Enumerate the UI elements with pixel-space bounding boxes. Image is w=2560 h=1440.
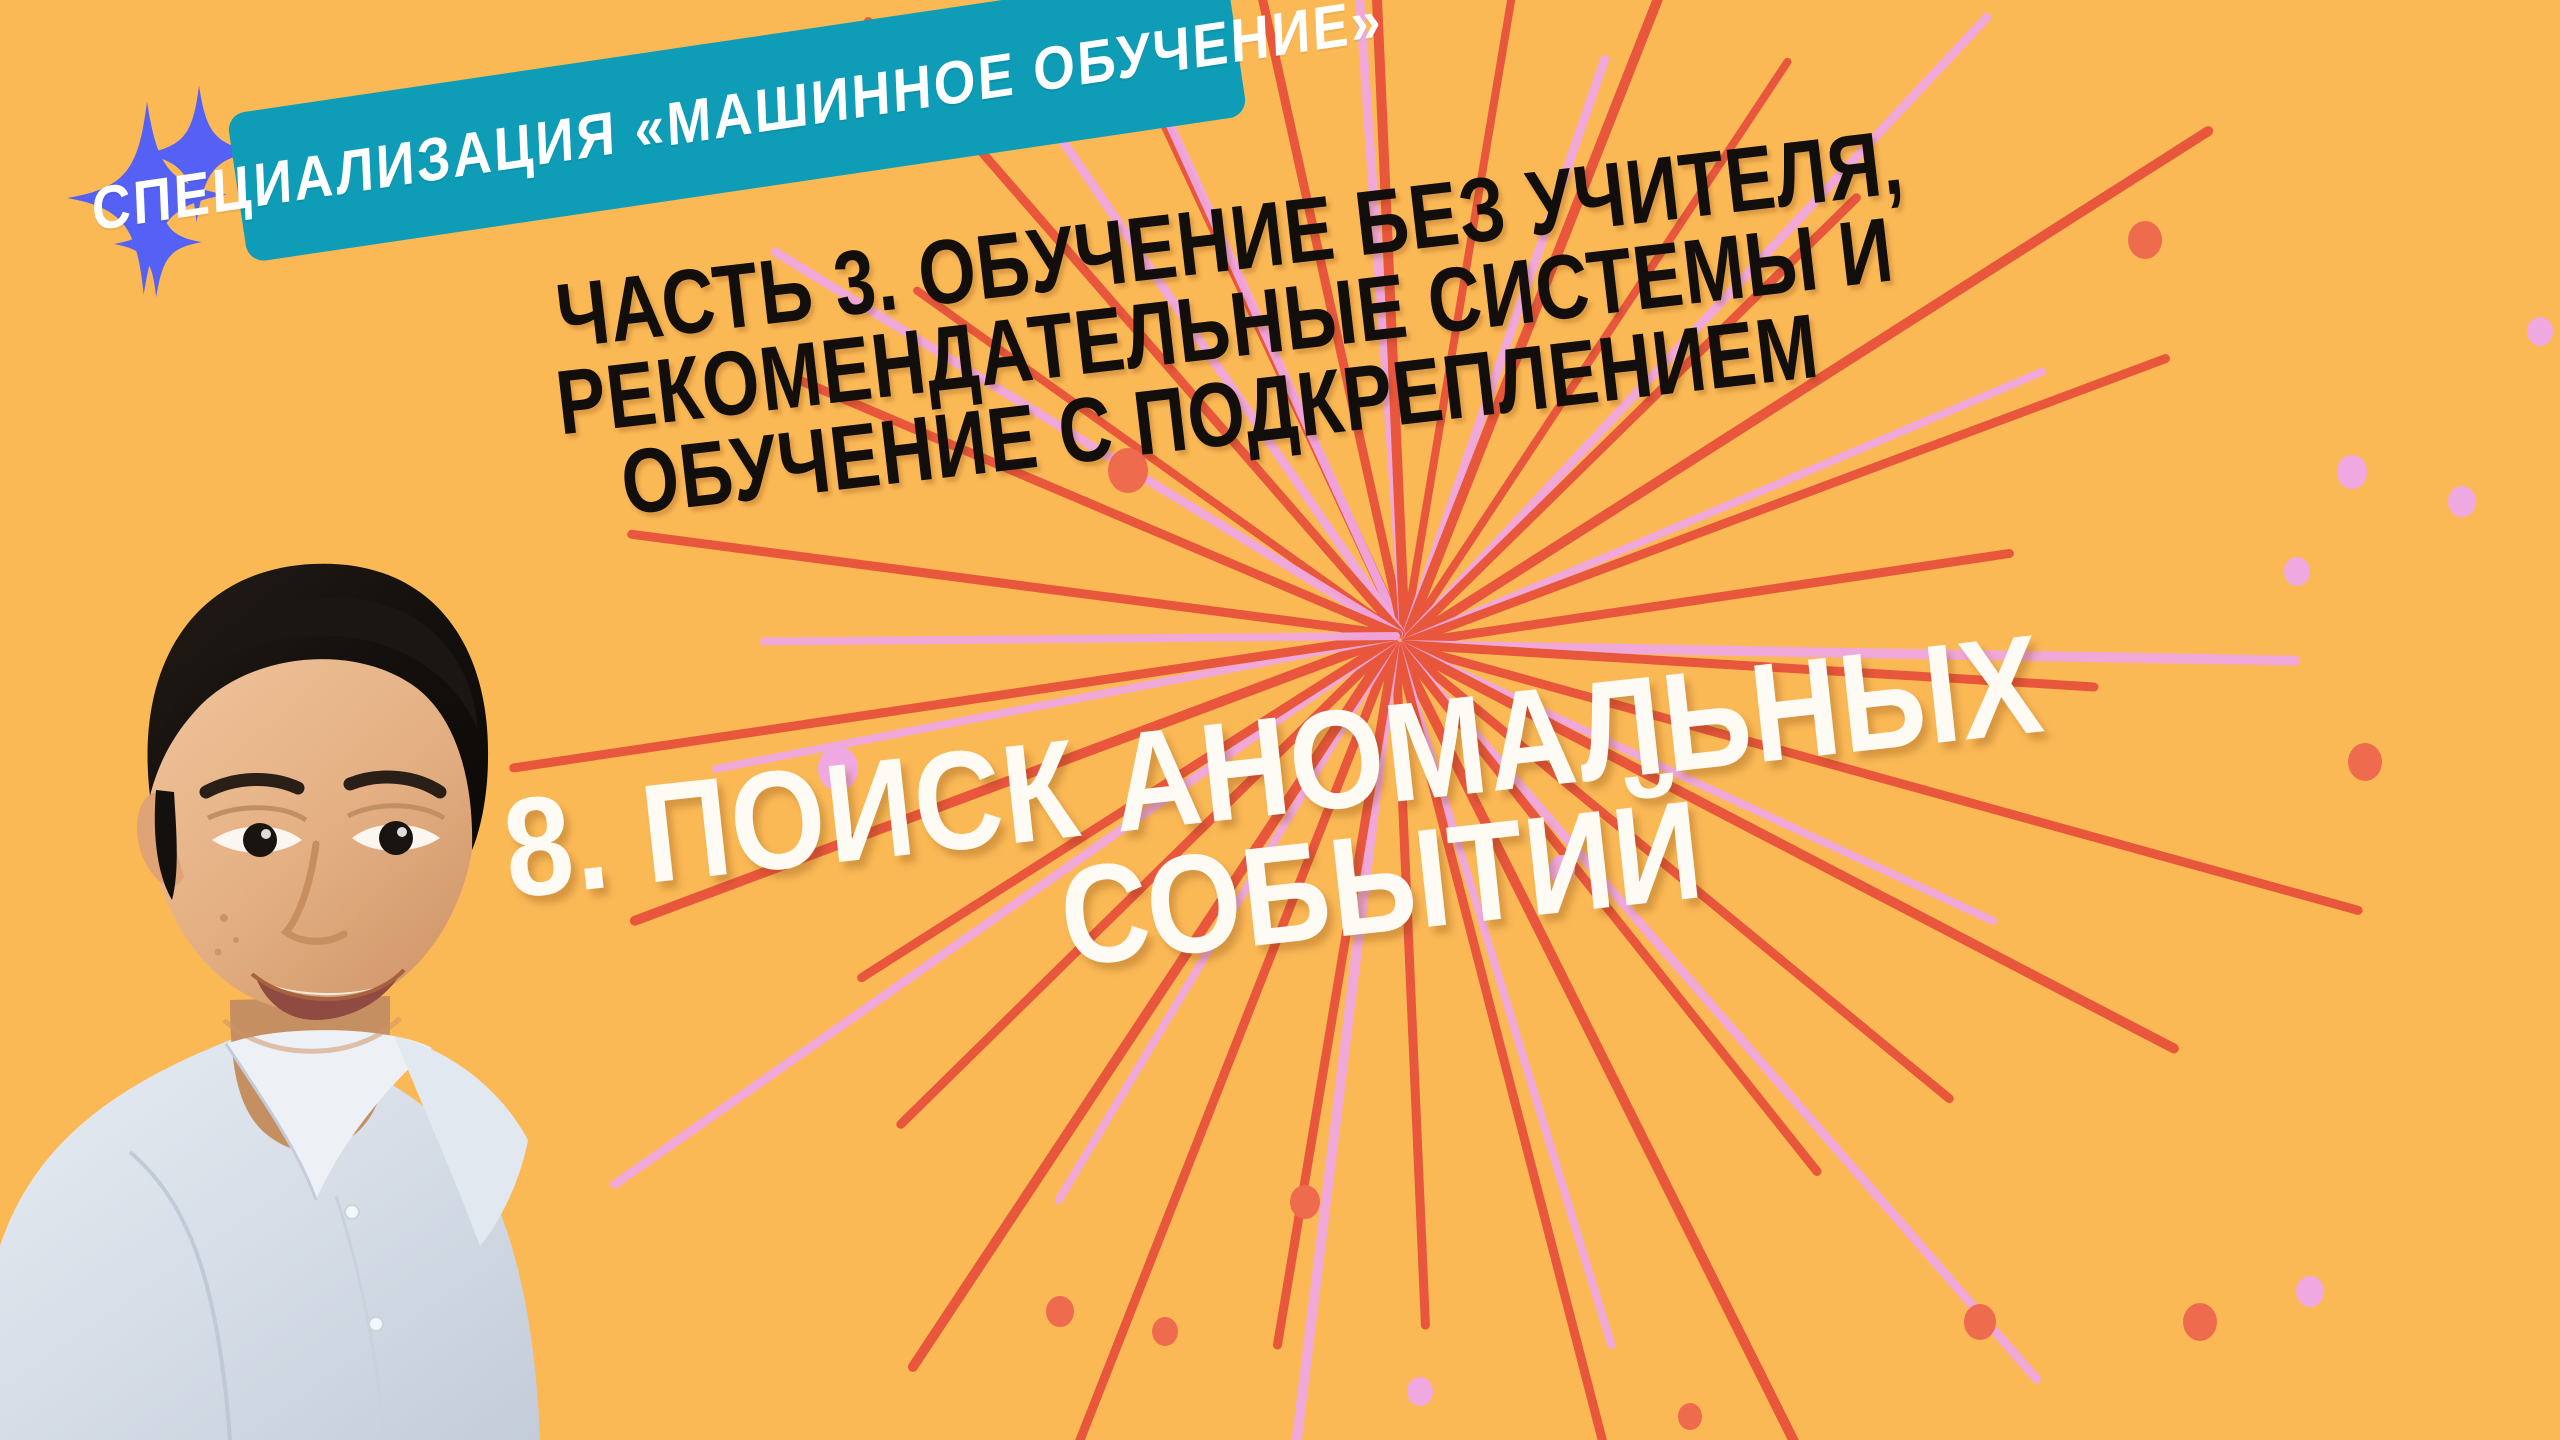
confetti-dot (2183, 1303, 2217, 1341)
confetti-dot (2284, 557, 2310, 586)
confetti-dot (2448, 486, 2476, 517)
confetti-dot (1152, 1317, 1178, 1346)
lecturer-portrait (0, 440, 720, 1440)
confetti-dot (1290, 1185, 1320, 1219)
confetti-dot (2348, 743, 2382, 781)
firework-ray (627, 529, 1402, 640)
slide-canvas: СПЕЦИАЛИЗАЦИЯ «МАШИННОЕ ОБУЧЕНИЕ» ЧАСТЬ … (0, 0, 2560, 1440)
confetti-dot (1678, 1403, 1702, 1430)
confetti-dot (1407, 1377, 1433, 1406)
confetti-dot (2296, 1276, 2324, 1307)
confetti-dot (2527, 317, 2553, 346)
firework-ray (760, 632, 1400, 646)
confetti-dot (2128, 221, 2162, 259)
confetti-dot (1046, 1296, 1074, 1327)
confetti-dot (1964, 1304, 1996, 1340)
lesson-title: 8. ПОИСК АНОМАЛЬНЫХ СОБЫТИЙ (490, 617, 2069, 1045)
confetti-dot (2337, 455, 2367, 489)
